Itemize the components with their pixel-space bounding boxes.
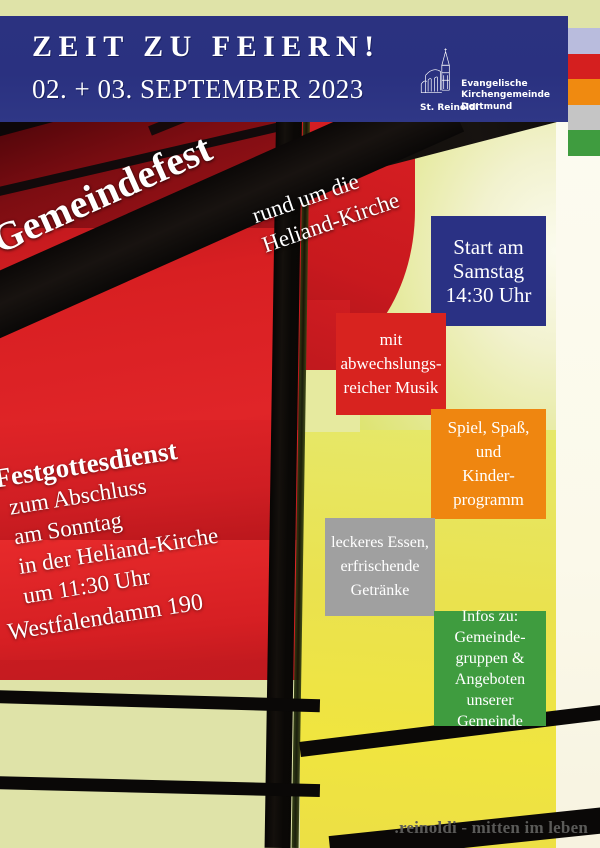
infos-line-3: gruppen & [454,648,525,669]
info-box-food-drinks-text: leckeres Essen, erfrischende Getränke [331,531,429,603]
logo-parish-name: St. Reinoldi [420,103,479,113]
info-box-infos: Infos zu: Gemeinde- gruppen & Angeboten … [434,611,546,726]
infos-line-4: Angeboten [454,669,525,690]
start-line-3: 14:30 Uhr [446,283,532,307]
infos-line-5: unserer [454,690,525,711]
stripe-swatch-lavender [568,28,600,54]
music-line-2: abwechslungs- [340,352,441,376]
info-box-infos-text: Infos zu: Gemeinde- gruppen & Angeboten … [454,606,525,732]
kids-line-4: programm [448,488,530,512]
food-line-1: leckeres Essen, [331,531,429,555]
logo-line-1: Evangelische [461,79,550,91]
food-line-2: erfrischende [331,555,429,579]
infos-line-2: Gemeinde- [454,627,525,648]
infos-line-6: Gemeinde [454,711,525,732]
page-title: ZEIT ZU FEIERN! [32,30,381,64]
brand-color-stripe [568,28,600,156]
info-box-food-drinks: leckeres Essen, erfrischende Getränke [325,518,435,616]
kids-line-1: Spiel, Spaß, [448,416,530,440]
kids-line-3: Kinder- [448,464,530,488]
music-line-3: reicher Musik [340,376,441,400]
glass-pane-cream-edge [556,120,600,848]
logo-line-2: Kirchengemeinde [461,90,550,102]
stripe-swatch-red [568,54,600,80]
food-line-3: Getränke [331,579,429,603]
start-line-2: Samstag [446,259,532,283]
info-box-start-time-text: Start am Samstag 14:30 Uhr [446,235,532,307]
footer-slogan: .reinoldi - mitten im leben [395,818,589,838]
parish-logo: Evangelische Kirchengemeinde Dortmund St… [420,24,550,116]
event-date: 02. + 03. SEPTEMBER 2023 [32,74,364,105]
kids-line-2: und [448,440,530,464]
stripe-swatch-gray [568,105,600,131]
stripe-swatch-orange [568,79,600,105]
info-box-kids-program-text: Spiel, Spaß, und Kinder- programm [448,416,530,512]
infos-line-1: Infos zu: [454,606,525,627]
music-line-1: mit [340,328,441,352]
header-bar: ZEIT ZU FEIERN! 02. + 03. SEPTEMBER 2023 [0,16,568,122]
poster-canvas: Gemeindefest rund um die Heliand-Kirche … [0,0,600,848]
info-box-music: mit abwechslungs- reicher Musik [336,313,446,415]
info-box-start-time: Start am Samstag 14:30 Uhr [431,216,546,326]
start-line-1: Start am [446,235,532,259]
info-box-kids-program: Spiel, Spaß, und Kinder- programm [431,409,546,519]
stripe-swatch-green [568,130,600,156]
info-box-music-text: mit abwechslungs- reicher Musik [340,328,441,400]
